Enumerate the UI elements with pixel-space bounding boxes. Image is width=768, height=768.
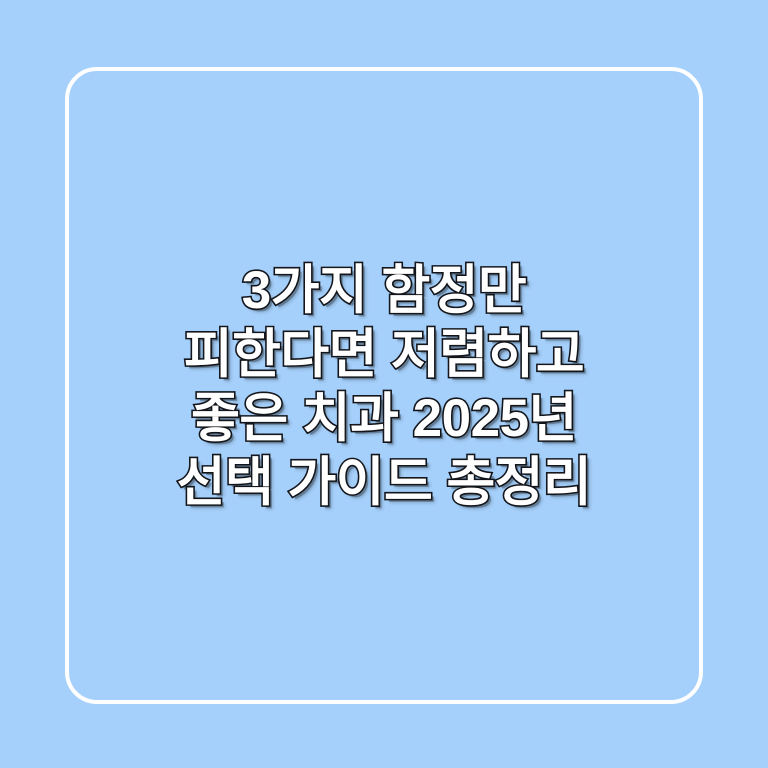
headline-line-4: 선택 가이드 총정리 [177, 451, 592, 515]
thumbnail-canvas: 3가지 함정만 피한다면 저렴하고 좋은 치과 2025년 선택 가이드 총정리 [0, 0, 768, 768]
headline-text-block: 3가지 함정만 피한다면 저렴하고 좋은 치과 2025년 선택 가이드 총정리 [0, 0, 768, 768]
headline-line-3: 좋은 치과 2025년 [191, 387, 577, 451]
headline-line-2: 피한다면 저렴하고 [184, 323, 584, 387]
headline-line-1: 3가지 함정만 [242, 259, 527, 323]
